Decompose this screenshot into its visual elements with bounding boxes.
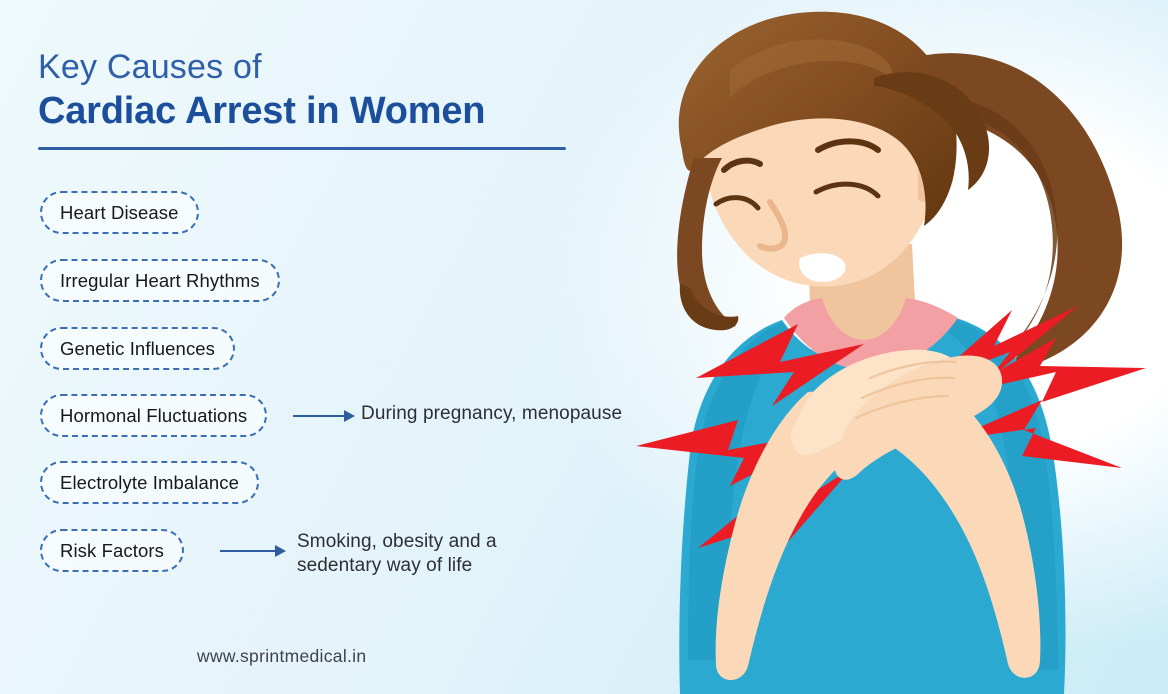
arrow-hormonal-fluctuations bbox=[293, 409, 355, 423]
arrow-risk-factors bbox=[220, 544, 286, 558]
title-line-1: Key Causes of bbox=[38, 48, 658, 86]
annotation-hormonal-fluctuations: During pregnancy, menopause bbox=[361, 402, 622, 426]
cause-pill-electrolyte-imbalance[interactable]: Electrolyte Imbalance bbox=[40, 461, 259, 504]
arrow-head bbox=[344, 410, 355, 422]
infographic-canvas: Key Causes of Cardiac Arrest in Women He… bbox=[0, 0, 1168, 694]
footer-website-url[interactable]: www.sprintmedical.in bbox=[197, 646, 366, 667]
cause-pill-genetic-influences[interactable]: Genetic Influences bbox=[40, 327, 235, 370]
illustration-woman-chest-pain bbox=[612, 0, 1168, 694]
title-underline bbox=[38, 147, 566, 150]
cause-pill-hormonal-fluctuations[interactable]: Hormonal Fluctuations bbox=[40, 394, 267, 437]
arrow-shaft bbox=[220, 550, 275, 552]
arrow-head bbox=[275, 545, 286, 557]
title-line-2: Cardiac Arrest in Women bbox=[38, 90, 658, 134]
arrow-shaft bbox=[293, 415, 344, 417]
page-title: Key Causes of Cardiac Arrest in Women bbox=[38, 48, 658, 134]
cause-pill-heart-disease[interactable]: Heart Disease bbox=[40, 191, 199, 234]
annotation-risk-factors: Smoking, obesity and a sedentary way of … bbox=[297, 530, 497, 579]
cause-pill-irregular-heart-rhythms[interactable]: Irregular Heart Rhythms bbox=[40, 259, 280, 302]
cause-pill-risk-factors[interactable]: Risk Factors bbox=[40, 529, 184, 572]
